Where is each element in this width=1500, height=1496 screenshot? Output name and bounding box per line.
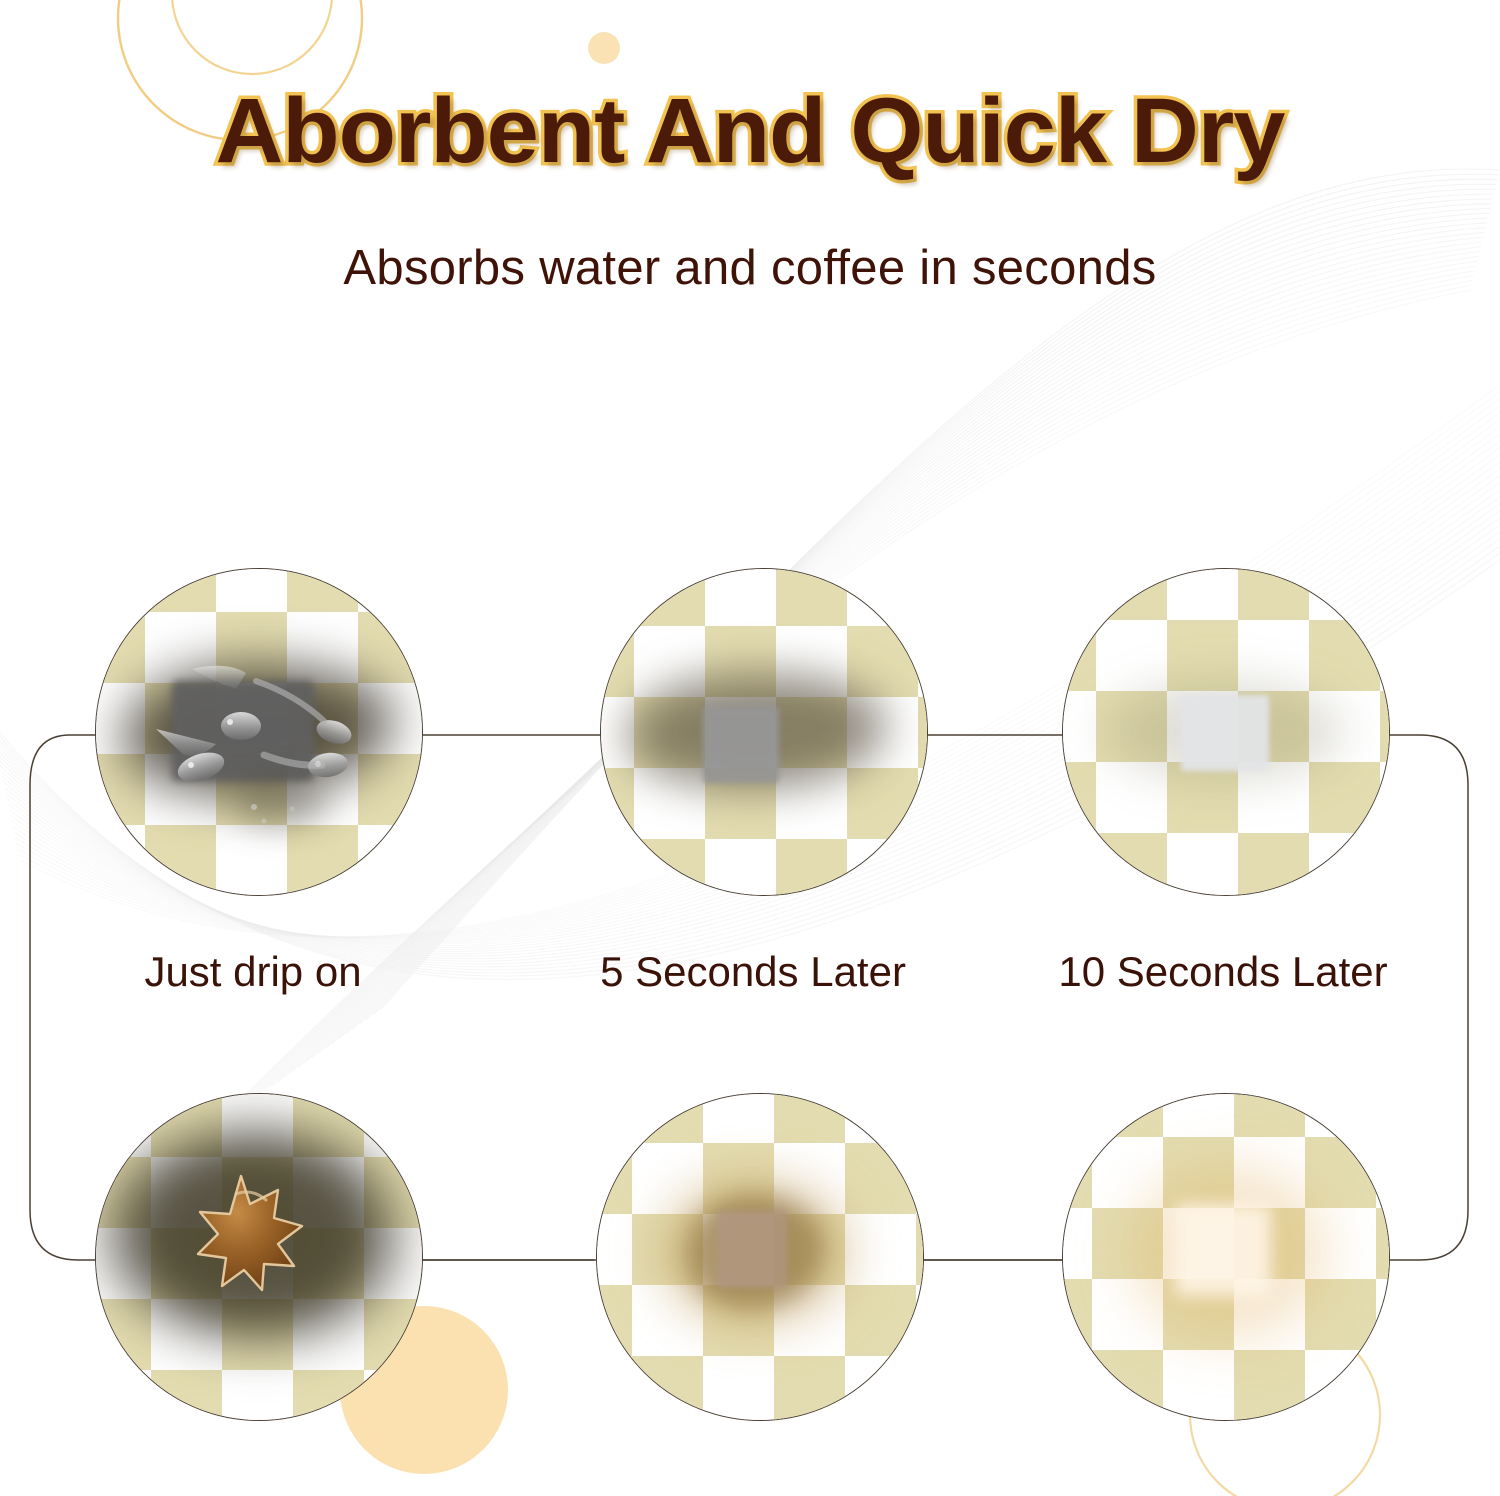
caption-step-2: 5 Seconds Later — [553, 948, 953, 996]
headline-block: Aborbent And Quick Dry — [0, 82, 1500, 181]
caption-step-1: Just drip on — [53, 948, 453, 996]
water-stain-core-light — [1181, 695, 1269, 771]
caption-step-1-label: Just drip on — [144, 948, 361, 995]
page-subtitle: Absorbs water and coffee in seconds — [0, 240, 1500, 296]
coffee-step-1-circle — [95, 1093, 423, 1421]
caption-step-2-label: 5 Seconds Later — [600, 948, 906, 995]
promo-canvas: Aborbent And Quick Dry Absorbs water and… — [0, 0, 1500, 1496]
accent-dot-top — [588, 32, 620, 64]
water-step-1-circle — [95, 568, 423, 896]
water-droplets-icon — [96, 569, 422, 895]
coffee-step-3-circle — [1062, 1093, 1390, 1421]
water-step-3-circle — [1062, 568, 1390, 896]
water-step-2-circle — [600, 568, 928, 896]
coffee-step-2-circle — [596, 1093, 924, 1421]
coffee-splash-icon — [96, 1094, 422, 1420]
caption-step-3-label: 10 Seconds Later — [1058, 948, 1387, 995]
page-title: Aborbent And Quick Dry — [216, 82, 1285, 181]
coffee-stain-core — [717, 1210, 787, 1288]
subheadline-block: Absorbs water and coffee in seconds — [0, 240, 1500, 296]
ring-inner-icon — [172, 0, 332, 74]
coffee-stain-core-faint — [1175, 1204, 1271, 1296]
water-stain-core — [703, 707, 779, 783]
caption-step-3: 10 Seconds Later — [1023, 948, 1423, 996]
